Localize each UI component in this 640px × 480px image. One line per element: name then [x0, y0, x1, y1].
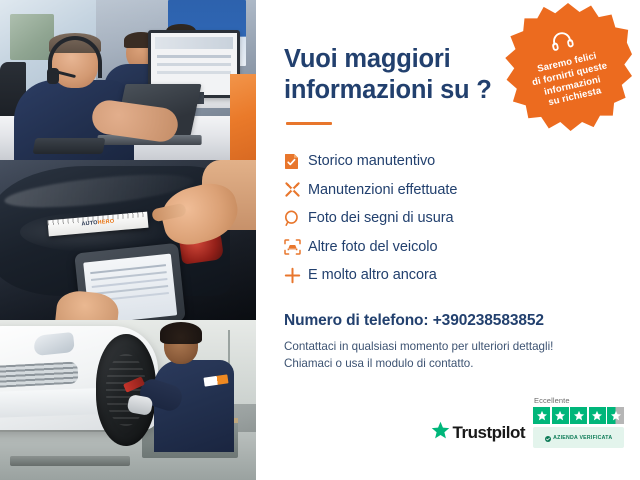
autohero-logo: AUTOHERO	[81, 220, 114, 228]
star-icon	[570, 407, 587, 424]
trustpilot-rating: Eccellente	[533, 396, 624, 448]
mechanic-hair-decor	[160, 322, 202, 344]
orange-banner-decor	[230, 74, 256, 160]
list-item-label: Storico manutentivo	[308, 153, 435, 169]
headline-line-2: informazioni su ?	[284, 75, 519, 106]
star-icon	[589, 407, 606, 424]
list-item: Foto dei segni di usura	[284, 204, 640, 233]
plus-icon	[284, 267, 308, 284]
contact-block: Numero di telefono: +390238583852 Contat…	[284, 312, 640, 373]
list-item-label: Altre foto del veicolo	[308, 239, 437, 255]
star-icon	[533, 407, 550, 424]
promo-poster: AUTOHERO	[0, 0, 640, 480]
autohero-logo-part-b: HERO	[97, 219, 114, 226]
trustpilot-star-icon	[431, 421, 450, 445]
car-lift-decor	[10, 456, 130, 466]
phone-number[interactable]: +390238583852	[433, 312, 544, 329]
headset-icon	[549, 28, 576, 56]
page-title: Vuoi maggiori informazioni su ?	[284, 44, 519, 106]
list-item-label: E molto altro ancora	[308, 267, 437, 283]
list-item: Altre foto del veicolo	[284, 233, 640, 262]
star-rating	[533, 407, 624, 424]
desk-tablet-decor	[33, 138, 106, 154]
feature-list: Storico manutentivo Manutenzioni effettu…	[284, 147, 640, 290]
list-item: Manutenzioni effettuate	[284, 176, 640, 205]
title-divider	[286, 122, 332, 125]
phone-label: Numero di telefono:	[284, 312, 429, 329]
bumper-decor	[0, 388, 110, 419]
contact-note: Contattaci in qualsiasi momento per ulte…	[284, 338, 584, 373]
verified-check-icon	[545, 429, 551, 447]
content-panel: Vuoi maggiori informazioni su ? Saremo f…	[256, 0, 640, 480]
badge-text: Saremo felici di fornirti queste informa…	[525, 47, 618, 113]
rating-label: Eccellente	[534, 396, 570, 405]
list-item-label: Foto dei segni di usura	[308, 210, 454, 226]
half-star-icon	[607, 407, 624, 424]
verified-badge: AZIENDA VERIFICATA	[533, 427, 624, 448]
wrench-screwdriver-icon	[284, 181, 308, 198]
magnifier-icon	[284, 210, 308, 227]
vehicle-inspection-ruler-photo: AUTOHERO	[0, 160, 256, 320]
autohero-logo-part-a: AUTO	[81, 220, 98, 227]
contact-note-line-1: Contattaci in qualsiasi momento per ulte…	[284, 338, 584, 355]
headline-line-1: Vuoi maggiori	[284, 45, 450, 73]
verified-label: AZIENDA VERIFICATA	[553, 435, 612, 441]
car-frame-icon	[284, 239, 308, 255]
call-center-agents-photo	[0, 0, 256, 160]
mechanic-wheel-inspection-photo	[0, 320, 256, 480]
star-icon	[552, 407, 569, 424]
trustpilot-widget[interactable]: Trustpilot Eccellente	[431, 396, 624, 448]
photo-strip: AUTOHERO	[0, 0, 256, 480]
list-item-label: Manutenzioni effettuate	[308, 182, 457, 198]
contact-note-line-2: Chiamaci o usa il modulo di contatto.	[284, 355, 584, 372]
checklist-document-icon	[284, 153, 308, 170]
badge-content: Saremo felici di fornirti queste informa…	[491, 0, 640, 144]
list-item: Storico manutentivo	[284, 147, 640, 176]
trustpilot-wordmark: Trustpilot	[453, 423, 525, 443]
list-item: E molto altro ancora	[284, 261, 640, 290]
trustpilot-brand: Trustpilot	[431, 421, 525, 448]
phone-line: Numero di telefono: +390238583852	[284, 312, 640, 330]
availability-badge: Saremo felici di fornirti queste informa…	[504, 3, 632, 131]
